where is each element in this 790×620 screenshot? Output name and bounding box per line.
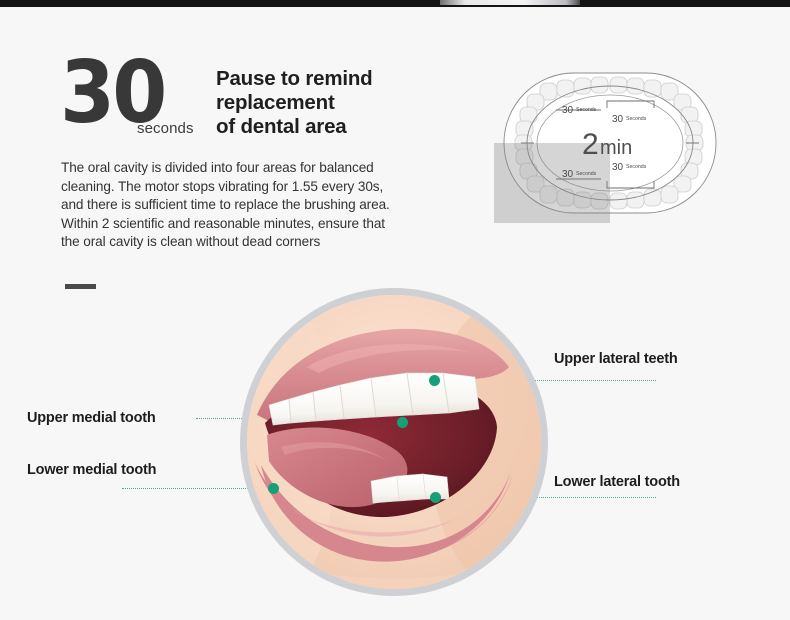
marker-dot-upper-lateral	[429, 375, 440, 386]
body-line-4: Within 2 scientific and reasonable minut…	[61, 215, 473, 234]
headline-line-2: replacement	[216, 91, 373, 115]
body-line-1: The oral cavity is divided into four are…	[61, 159, 473, 178]
body-line-5: the oral cavity is clean without dead co…	[61, 233, 473, 252]
seconds-unit-label: seconds	[137, 120, 194, 137]
mouth-photo	[247, 295, 541, 589]
arch-q-lower-right-unit: Seconds	[626, 164, 647, 170]
arch-q-lower-right-value: 30	[612, 162, 624, 173]
arch-center-minutes-unit: min	[600, 137, 632, 159]
arch-q-lower-left-unit: Seconds	[576, 171, 597, 177]
headline-line-1: Pause to remind	[216, 67, 373, 91]
infographic-page: 30 seconds Pause to remind replacement o…	[0, 0, 790, 620]
arch-q-upper-left-value: 30	[562, 105, 574, 116]
arch-q-lower-left-value: 30	[562, 169, 574, 180]
headline-line-3: of dental area	[216, 115, 373, 139]
arch-q-upper-left-unit: Seconds	[576, 107, 597, 113]
arch-center-minutes-value: 2	[582, 128, 599, 161]
callout-label-lower-lateral: Lower lateral tooth	[554, 474, 680, 490]
marker-dot-lower-lateral	[430, 492, 441, 503]
arch-q-upper-right-unit: Seconds	[626, 116, 647, 122]
photo-ring-border	[240, 288, 548, 596]
headline: Pause to remind replacement of dental ar…	[216, 67, 373, 139]
hero-section: 30 seconds Pause to remind replacement o…	[0, 7, 790, 290]
dental-arch-diagram: 2 min 30 Seconds 30 Seconds 30 Seconds 3…	[494, 63, 726, 223]
callout-label-lower-medial: Lower medial tooth	[27, 462, 156, 478]
body-line-2: cleaning. The motor stops vibrating for …	[61, 178, 473, 197]
callout-label-upper-medial: Upper medial tooth	[27, 410, 156, 426]
callout-label-upper-lateral: Upper lateral teeth	[554, 351, 678, 367]
body-paragraph: The oral cavity is divided into four are…	[61, 159, 473, 252]
top-dark-bar	[0, 0, 790, 7]
top-bar-highlight-notch	[440, 0, 580, 5]
body-line-3: and there is sufficient time to replace …	[61, 196, 473, 215]
marker-dot-upper-medial	[397, 417, 408, 428]
arch-q-upper-right-value: 30	[612, 114, 624, 125]
section-divider-dash	[65, 284, 96, 289]
marker-dot-lower-medial	[268, 483, 279, 494]
